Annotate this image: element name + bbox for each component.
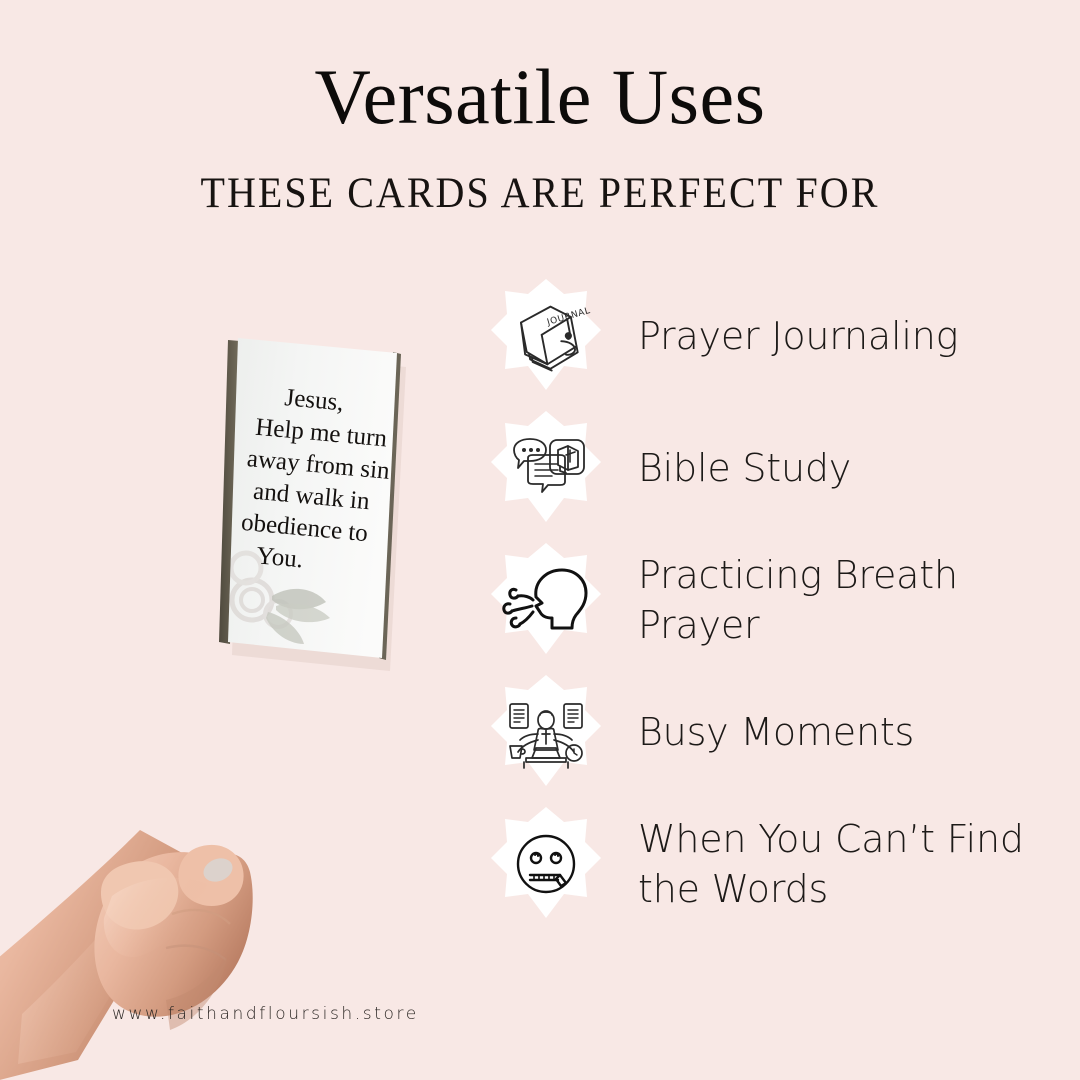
list-item-label: Prayer Journaling [638, 278, 1068, 394]
feature-list: JOURNAL Prayer Journaling [488, 278, 1068, 938]
list-item-label: Practicing Breath Prayer [638, 542, 1068, 658]
page-title: Versatile Uses [0, 58, 1080, 136]
product-photo: Jesus, Help me turn away from sin and wa… [0, 300, 470, 1080]
list-item-label: Busy Moments [638, 674, 1068, 790]
breath-prayer-icon [488, 542, 604, 658]
list-item-label: Bible Study [638, 410, 1068, 526]
svg-text:You.: You. [255, 542, 304, 573]
list-item[interactable]: Bible Study [488, 410, 1068, 542]
list-item[interactable]: JOURNAL Prayer Journaling [488, 278, 1068, 410]
svg-text:Jesus,: Jesus, [284, 384, 345, 416]
busy-multitasking-icon [488, 674, 604, 790]
list-item[interactable]: Practicing Breath Prayer [488, 542, 1068, 674]
promo-graphic: Versatile Uses THESE CARDS ARE PERFECT F… [0, 0, 1080, 1080]
list-item[interactable]: Busy Moments [488, 674, 1068, 806]
list-item[interactable]: When You Can’t Find the Words [488, 806, 1068, 938]
zipper-mouth-face-icon [488, 806, 604, 922]
list-item-label: When You Can’t Find the Words [638, 806, 1068, 922]
bible-study-icon [488, 410, 604, 526]
journal-icon: JOURNAL [488, 278, 604, 394]
page-subtitle: THESE CARDS ARE PERFECT FOR [38, 172, 1042, 215]
website-url: www.faithandfloursish.store [112, 1004, 419, 1024]
